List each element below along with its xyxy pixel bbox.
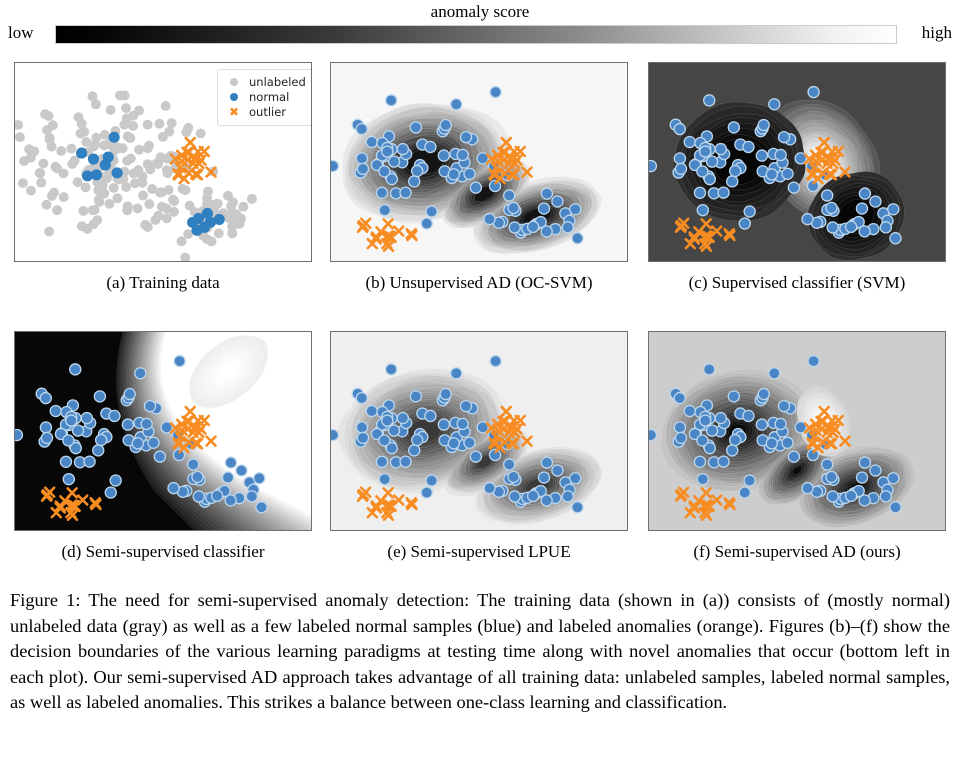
legend-item-outlier: ✖ outlier — [224, 105, 306, 120]
data-point — [421, 487, 432, 498]
data-point — [128, 111, 138, 121]
data-point — [704, 95, 715, 106]
data-point — [440, 120, 451, 131]
legend-item-normal: normal — [224, 90, 306, 105]
data-point — [122, 419, 133, 430]
data-point — [827, 491, 838, 502]
data-point — [254, 473, 265, 484]
data-point — [470, 451, 481, 462]
data-point — [870, 465, 881, 476]
data-point — [161, 101, 171, 111]
data-point — [426, 475, 437, 486]
data-point — [376, 456, 387, 467]
data-point — [775, 418, 786, 429]
data-point — [541, 188, 552, 199]
data-point — [115, 90, 125, 100]
data-point — [52, 205, 62, 215]
data-point — [409, 445, 420, 456]
data-point — [880, 222, 891, 233]
data-point — [538, 203, 549, 214]
data-point — [410, 391, 421, 402]
data-point — [183, 123, 193, 133]
data-point — [890, 233, 901, 244]
data-point — [859, 226, 870, 237]
data-point — [718, 187, 729, 198]
data-point — [460, 401, 471, 412]
legend-item-unlabeled: unlabeled — [224, 75, 306, 90]
data-point — [846, 221, 857, 232]
data-point — [356, 124, 367, 135]
data-point — [782, 437, 793, 448]
data-point — [778, 132, 789, 143]
data-point — [135, 368, 146, 379]
data-point — [822, 459, 833, 470]
data-point — [110, 475, 121, 486]
data-point — [570, 204, 581, 215]
data-point — [541, 457, 552, 468]
data-point — [196, 129, 206, 139]
data-point — [674, 393, 685, 404]
data-point — [141, 418, 152, 429]
data-point — [464, 168, 475, 179]
panel-c-plot — [649, 63, 945, 261]
data-point — [859, 188, 870, 199]
data-point — [84, 456, 95, 467]
data-point — [18, 178, 28, 188]
data-point — [700, 415, 711, 426]
data-point — [100, 130, 110, 140]
data-point — [238, 202, 248, 212]
data-point — [174, 356, 185, 367]
data-point — [213, 199, 223, 209]
data-point — [541, 226, 552, 237]
data-point — [109, 183, 119, 193]
data-point — [464, 437, 475, 448]
data-point — [397, 413, 408, 424]
data-point — [169, 207, 179, 217]
data-point — [112, 167, 123, 178]
data-point — [145, 164, 155, 174]
data-point — [59, 168, 69, 178]
data-point — [888, 204, 899, 215]
data-point — [50, 162, 60, 172]
data-point — [674, 153, 685, 164]
data-point — [490, 87, 501, 98]
data-point — [91, 133, 101, 143]
legend-label-normal: normal — [249, 90, 289, 105]
data-point — [132, 438, 143, 449]
data-point — [856, 472, 867, 483]
data-point — [674, 124, 685, 135]
data-point — [15, 132, 25, 142]
panel-b-plot — [331, 63, 627, 261]
data-point — [756, 150, 767, 161]
data-point — [743, 410, 754, 421]
data-point — [76, 148, 87, 159]
data-point — [236, 465, 247, 476]
data-point — [426, 206, 437, 217]
data-point — [572, 502, 583, 513]
data-point — [808, 87, 819, 98]
data-point — [70, 364, 81, 375]
data-point — [822, 190, 833, 201]
panel-f-plot — [649, 332, 945, 530]
data-point — [744, 206, 755, 217]
data-point — [366, 405, 377, 416]
data-point — [225, 457, 236, 468]
colorbar-high-label: high — [922, 22, 952, 44]
panel-c-supervised-classifier — [648, 62, 946, 262]
data-point — [728, 391, 739, 402]
data-point — [60, 456, 71, 467]
data-point — [684, 136, 695, 147]
data-point — [109, 132, 120, 143]
data-point — [700, 146, 711, 157]
data-point — [121, 103, 131, 113]
data-point — [552, 465, 563, 476]
data-point — [214, 214, 225, 225]
data-point — [157, 202, 167, 212]
panel-e-caption: (e) Semi-supervised LPUE — [329, 541, 629, 563]
data-point — [697, 166, 708, 177]
data-point — [775, 149, 786, 160]
data-point — [451, 99, 462, 110]
data-point — [128, 121, 138, 131]
data-point — [715, 144, 726, 155]
data-point — [457, 418, 468, 429]
data-point — [124, 389, 135, 400]
data-point — [222, 472, 233, 483]
data-point — [137, 172, 147, 182]
panel-d-semi-supervised-classifier — [14, 331, 312, 531]
data-point — [694, 456, 705, 467]
data-point — [180, 185, 190, 195]
data-point — [870, 196, 881, 207]
data-point — [440, 389, 451, 400]
data-point — [730, 435, 741, 446]
data-point — [802, 483, 813, 494]
data-point — [93, 445, 104, 456]
data-point — [59, 192, 69, 202]
panel-f-caption: (f) Semi-supervised AD (ours) — [647, 541, 947, 563]
data-point — [42, 125, 52, 135]
data-point — [35, 168, 45, 178]
data-point — [246, 491, 257, 502]
data-point — [728, 122, 739, 133]
data-point — [739, 218, 750, 229]
data-point — [125, 133, 135, 143]
data-point — [758, 120, 769, 131]
data-point — [113, 193, 123, 203]
data-point — [675, 432, 686, 443]
data-point — [508, 202, 519, 213]
data-point — [758, 389, 769, 400]
data-point — [684, 405, 695, 416]
data-point — [223, 191, 233, 201]
data-point — [460, 132, 471, 143]
panel-b-unsupervised-ad — [330, 62, 628, 262]
data-point — [448, 169, 459, 180]
data-point — [412, 435, 423, 446]
data-point — [44, 227, 54, 237]
data-point — [118, 143, 128, 153]
data-point — [66, 144, 76, 154]
data-point — [185, 201, 195, 211]
data-point — [56, 146, 66, 156]
data-point — [859, 495, 870, 506]
data-point — [769, 368, 780, 379]
data-point — [827, 222, 838, 233]
data-point — [382, 415, 393, 426]
data-point — [81, 137, 91, 147]
data-point — [727, 445, 738, 456]
data-point — [859, 457, 870, 468]
data-point — [744, 475, 755, 486]
data-point — [715, 413, 726, 424]
data-point — [78, 206, 88, 216]
data-point — [382, 146, 393, 157]
panel-d-plot — [15, 332, 311, 530]
data-point — [76, 129, 86, 139]
data-point — [888, 473, 899, 484]
data-point — [552, 196, 563, 207]
data-point — [451, 368, 462, 379]
data-point — [379, 166, 390, 177]
panel-a-caption: (a) Training data — [13, 272, 313, 294]
data-point — [41, 432, 52, 443]
orange-x-icon: ✖ — [224, 105, 244, 120]
data-point — [154, 119, 164, 129]
data-point — [826, 202, 837, 213]
data-point — [36, 178, 46, 188]
panel-c-caption: (c) Supervised classifier (SVM) — [647, 272, 947, 294]
data-point — [706, 425, 717, 436]
data-point — [212, 490, 223, 501]
panel-f-semi-supervised-ad-ours — [648, 331, 946, 531]
data-point — [167, 118, 177, 128]
data-point — [177, 236, 187, 246]
data-point — [438, 419, 449, 430]
data-point — [388, 156, 399, 167]
data-point — [730, 166, 741, 177]
data-point — [412, 166, 423, 177]
data-point — [45, 135, 55, 145]
data-point — [357, 432, 368, 443]
data-point — [106, 105, 116, 115]
data-point — [538, 472, 549, 483]
data-point — [92, 215, 102, 225]
data-point — [509, 222, 520, 233]
colorbar-gradient — [55, 25, 897, 44]
gray-dot-icon — [224, 75, 244, 90]
data-point — [143, 222, 153, 232]
data-point — [192, 471, 203, 482]
data-point — [153, 211, 163, 221]
panel-e-plot — [331, 332, 627, 530]
data-point — [191, 225, 202, 236]
data-point — [697, 474, 708, 485]
data-point — [168, 483, 179, 494]
data-point — [122, 205, 132, 215]
data-point — [356, 422, 367, 433]
data-point — [226, 201, 236, 211]
data-point — [19, 156, 29, 166]
data-point — [50, 405, 61, 416]
data-point — [66, 415, 77, 426]
data-point — [756, 419, 767, 430]
data-point — [331, 429, 338, 440]
data-point — [44, 111, 54, 121]
data-point — [96, 435, 107, 446]
data-point — [331, 160, 338, 171]
data-point — [425, 410, 436, 421]
legend-label-unlabeled: unlabeled — [249, 75, 306, 90]
data-point — [41, 200, 51, 210]
legend-label-outlier: outlier — [249, 105, 286, 120]
data-point — [88, 153, 99, 164]
data-point — [457, 149, 468, 160]
data-point — [570, 473, 581, 484]
data-point — [706, 156, 717, 167]
data-point — [73, 177, 83, 187]
data-point — [704, 364, 715, 375]
data-point — [397, 144, 408, 155]
data-point — [356, 393, 367, 404]
data-point — [826, 471, 837, 482]
data-point — [572, 233, 583, 244]
data-point — [72, 425, 83, 436]
data-point — [88, 205, 98, 215]
data-point — [766, 438, 777, 449]
data-point — [379, 435, 390, 446]
data-point — [40, 393, 51, 404]
data-point — [105, 487, 116, 498]
data-point — [366, 136, 377, 147]
data-point — [856, 203, 867, 214]
data-point — [119, 120, 129, 130]
panel-a-training-data: unlabeled normal ✖ outlier — [14, 62, 312, 262]
data-point — [448, 438, 459, 449]
figure-caption: Figure 1: The need for semi-supervised a… — [10, 588, 950, 716]
data-point — [47, 191, 57, 201]
data-point — [743, 141, 754, 152]
data-point — [99, 189, 109, 199]
data-point — [24, 144, 34, 154]
colorbar-title: anomaly score — [0, 2, 960, 22]
data-point — [91, 99, 101, 109]
data-point — [386, 95, 397, 106]
legend: unlabeled normal ✖ outlier — [217, 69, 312, 126]
data-point — [67, 159, 77, 169]
data-point — [541, 495, 552, 506]
data-point — [508, 471, 519, 482]
data-point — [109, 410, 120, 421]
data-point — [144, 401, 155, 412]
data-point — [386, 364, 397, 375]
data-point — [154, 451, 165, 462]
data-point — [649, 429, 656, 440]
data-point — [38, 159, 48, 169]
data-point — [26, 186, 36, 196]
data-point — [356, 153, 367, 164]
data-point — [214, 228, 224, 238]
data-point — [94, 391, 105, 402]
data-point — [134, 145, 144, 155]
data-point — [718, 456, 729, 467]
data-point — [81, 413, 92, 424]
data-point — [562, 222, 573, 233]
data-point — [400, 456, 411, 467]
data-point — [562, 491, 573, 502]
data-point — [890, 502, 901, 513]
data-point — [143, 120, 153, 130]
data-point — [504, 459, 515, 470]
data-point — [163, 168, 173, 178]
data-point — [782, 168, 793, 179]
data-point — [247, 194, 257, 204]
colorbar-low-label: low — [8, 22, 34, 44]
data-point — [169, 196, 179, 206]
data-point — [410, 122, 421, 133]
blue-dot-icon — [224, 90, 244, 105]
data-point — [225, 495, 236, 506]
data-point — [490, 356, 501, 367]
data-point — [193, 491, 204, 502]
colorbar: anomaly score low high — [0, 0, 960, 50]
data-point — [148, 437, 159, 448]
data-point — [100, 159, 111, 170]
data-point — [188, 459, 199, 470]
panel-b-caption: (b) Unsupervised AD (OC-SVM) — [329, 272, 629, 294]
data-point — [224, 213, 234, 223]
data-point — [63, 474, 74, 485]
data-point — [157, 187, 167, 197]
data-point — [15, 429, 22, 440]
data-point — [802, 214, 813, 225]
data-point — [484, 214, 495, 225]
data-point — [77, 119, 87, 129]
data-point — [470, 182, 481, 193]
data-point — [379, 205, 390, 216]
data-point — [769, 99, 780, 110]
data-point — [528, 221, 539, 232]
data-point — [144, 199, 154, 209]
data-point — [846, 490, 857, 501]
data-point — [697, 435, 708, 446]
data-point — [649, 160, 656, 171]
data-point — [132, 203, 142, 213]
data-point — [438, 150, 449, 161]
data-point — [675, 163, 686, 174]
data-point — [82, 170, 93, 181]
data-point — [357, 163, 368, 174]
data-point — [674, 422, 685, 433]
data-point — [739, 487, 750, 498]
data-point — [379, 474, 390, 485]
data-point — [766, 169, 777, 180]
data-point — [40, 422, 51, 433]
data-point — [63, 435, 74, 446]
data-point — [697, 205, 708, 216]
data-point — [509, 491, 520, 502]
data-point — [788, 451, 799, 462]
data-point — [256, 502, 267, 513]
panel-d-caption: (d) Semi-supervised classifier — [13, 541, 313, 563]
data-point — [400, 187, 411, 198]
data-point — [409, 176, 420, 187]
data-point — [694, 187, 705, 198]
data-point — [421, 218, 432, 229]
